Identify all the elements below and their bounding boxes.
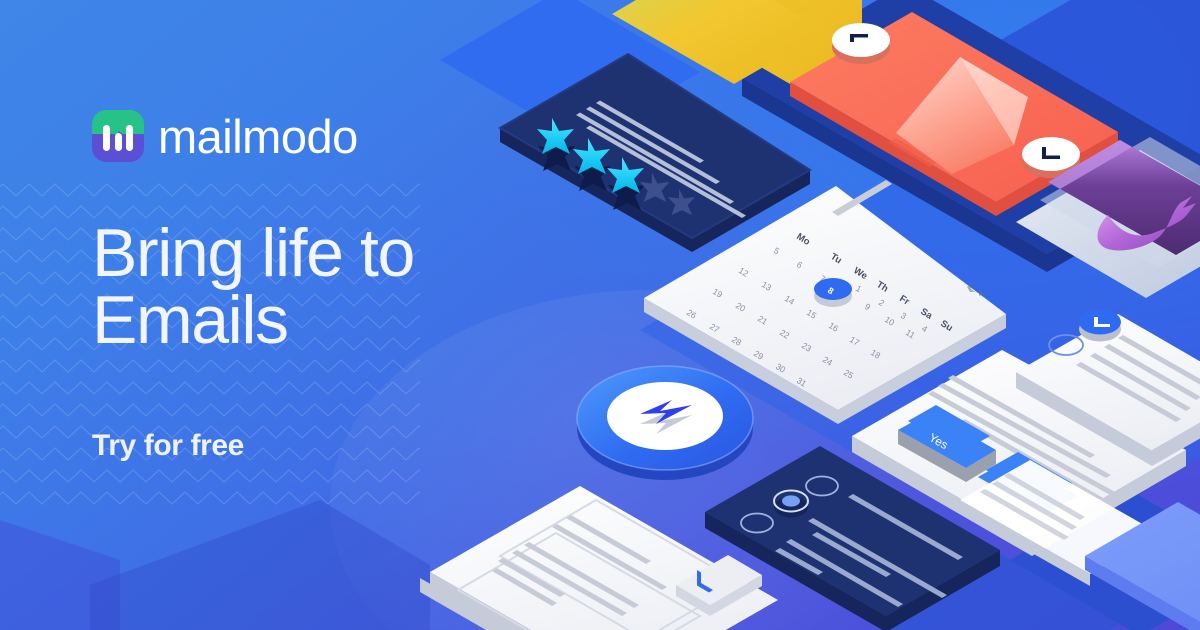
svg-text:Mo: Mo — [794, 231, 812, 248]
accent-blue-slab — [1085, 502, 1200, 630]
svg-text:23: 23 — [800, 340, 814, 354]
svg-text:Th: Th — [874, 279, 890, 295]
image-crop-card — [790, 12, 1118, 216]
svg-text:14: 14 — [783, 293, 797, 307]
mailmodo-bars-icon — [92, 110, 144, 162]
brand-logo[interactable]: mailmodo — [92, 110, 562, 162]
svg-text:26: 26 — [685, 307, 699, 321]
checklist-circle-icon — [1049, 335, 1083, 355]
svg-text:12: 12 — [737, 265, 751, 279]
survey-text-lines — [928, 375, 1117, 502]
calendar-nav — [967, 283, 985, 296]
svg-text:19: 19 — [711, 286, 725, 300]
svg-text:Fr: Fr — [897, 293, 911, 308]
svg-text:2: 2 — [877, 297, 887, 308]
crop-corner-top-left-icon — [832, 23, 890, 64]
svg-text:13: 13 — [760, 279, 774, 293]
checklist-clock-icon — [1079, 310, 1121, 342]
try-for-free-cta[interactable]: Try for free — [92, 429, 562, 463]
bolt-icon-shadow — [640, 410, 692, 434]
form-document-card — [420, 486, 778, 630]
svg-text:29: 29 — [752, 348, 766, 362]
lightning-bolt-button — [577, 366, 753, 480]
svg-text:We: We — [851, 265, 869, 282]
svg-text:30: 30 — [774, 361, 788, 375]
svg-text:8: 8 — [826, 285, 836, 296]
svg-text:24: 24 — [821, 354, 835, 368]
svg-text:4: 4 — [920, 323, 930, 334]
svg-text:31: 31 — [795, 375, 809, 389]
radio-option-3 — [806, 477, 838, 496]
svg-text:9: 9 — [863, 301, 873, 312]
yes-no-survey-card: Yes No — [852, 350, 1186, 556]
svg-text:17: 17 — [848, 334, 862, 348]
star-filled-3 — [607, 157, 645, 210]
svg-text:Tu: Tu — [828, 251, 843, 266]
star-empty-4 — [640, 173, 670, 202]
svg-text:25: 25 — [842, 367, 856, 381]
svg-text:3: 3 — [899, 310, 909, 321]
svg-text:Yes: Yes — [927, 430, 951, 452]
checklist-text-lines — [1076, 335, 1200, 422]
hero-content: mailmodo Bring life to Emails Try for fr… — [92, 110, 562, 463]
checklist-card — [1016, 310, 1200, 467]
radio-option-2-selected — [774, 491, 808, 518]
svg-text:20: 20 — [734, 300, 748, 314]
svg-text:21: 21 — [756, 313, 770, 327]
svg-text:11: 11 — [904, 327, 917, 340]
svg-text:Sa: Sa — [918, 306, 934, 322]
svg-text:27: 27 — [708, 321, 722, 335]
review-text-lines — [576, 101, 746, 219]
hero-banner: Mo Tu We Th Fr Sa Su 1 2 3 4 5 6 7 9 10 — [0, 0, 1200, 630]
calendar-dates: 1 2 3 4 5 6 7 9 10 11 12 13 14 15 16 17 … — [685, 245, 930, 389]
svg-text:15: 15 — [805, 307, 819, 321]
crop-corner-bottom-right-icon — [1022, 137, 1080, 178]
survey-no-button: No — [978, 452, 1078, 515]
crop-corner-bottom-left-icon — [676, 555, 762, 616]
paint-blob-object — [1016, 137, 1200, 298]
brand-name: mailmodo — [158, 113, 358, 160]
svg-text:22: 22 — [778, 327, 792, 341]
svg-text:7: 7 — [818, 273, 828, 284]
radio-options — [741, 477, 838, 533]
page-title: Bring life to Emails — [92, 220, 562, 353]
calendar-weekdays: Mo Tu We Th Fr Sa Su — [794, 231, 954, 334]
radio-text-lines — [775, 494, 963, 607]
image-crop-shape — [888, 57, 1028, 174]
secondary-list-card — [960, 460, 1160, 586]
svg-text:6: 6 — [795, 259, 805, 270]
svg-text:10: 10 — [883, 314, 897, 328]
star-filled-2 — [573, 138, 611, 191]
svg-text:1: 1 — [854, 283, 864, 294]
svg-text:28: 28 — [730, 334, 744, 348]
svg-text:Su: Su — [938, 318, 954, 334]
svg-text:No: No — [1007, 478, 1027, 498]
calendar-selected-day: 8 — [814, 278, 852, 307]
survey-yes-button: Yes — [898, 405, 996, 482]
radio-option-1 — [741, 514, 773, 533]
radio-choice-card — [705, 446, 1000, 630]
calendar-card: Mo Tu We Th Fr Sa Su 1 2 3 4 5 6 7 9 10 — [644, 180, 1006, 424]
bolt-icon — [640, 400, 692, 424]
svg-text:16: 16 — [827, 320, 841, 334]
svg-text:18: 18 — [869, 347, 883, 361]
form-text-lines — [492, 515, 667, 616]
star-empty-5 — [668, 189, 695, 215]
svg-text:5: 5 — [772, 245, 782, 256]
